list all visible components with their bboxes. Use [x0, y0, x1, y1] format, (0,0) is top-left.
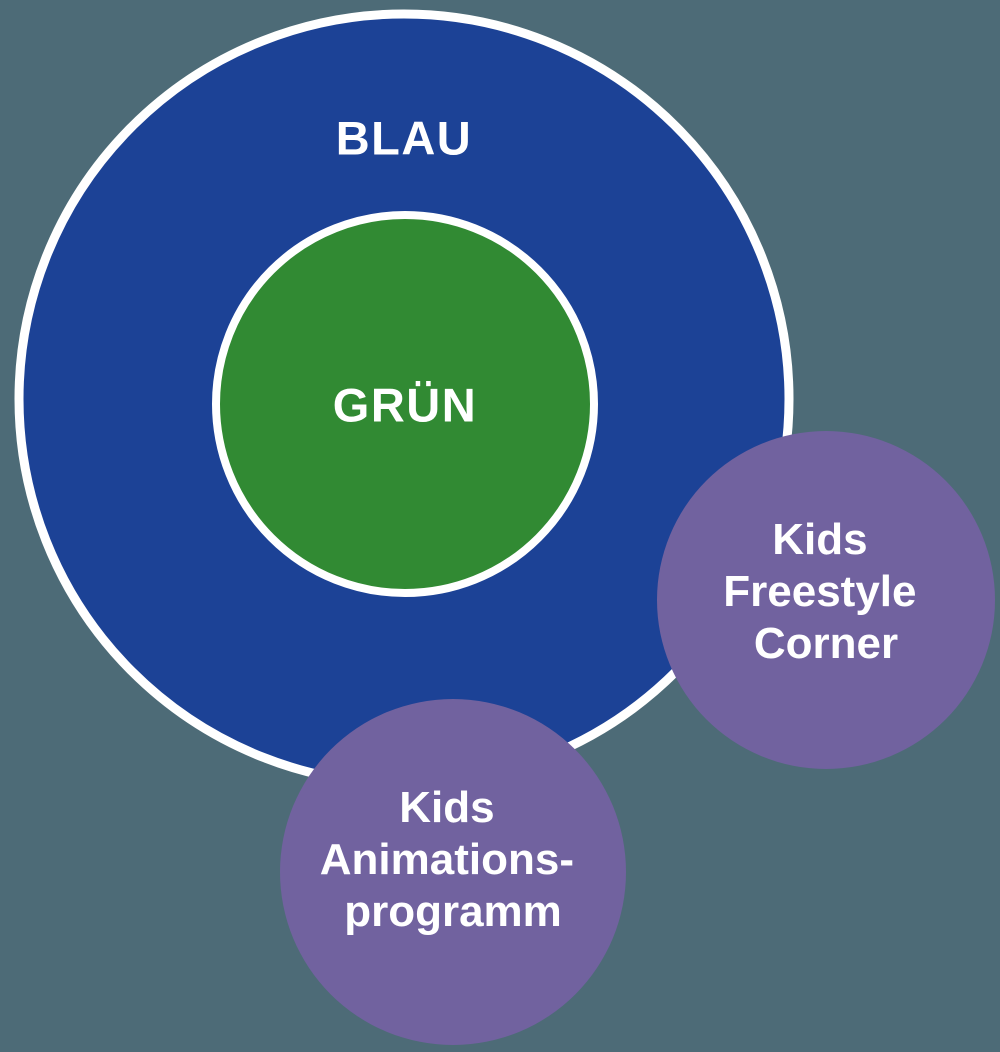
label-line: Kids: [772, 515, 867, 564]
label-blau: BLAU: [336, 111, 473, 164]
label-gruen: GRÜN: [333, 378, 477, 431]
circles-diagram: BLAU GRÜN Kids Freestyle Corner Kids Ani…: [0, 0, 1000, 1052]
label-line: Corner: [754, 619, 898, 668]
diagram-canvas: BLAU GRÜN Kids Freestyle Corner Kids Ani…: [0, 0, 1000, 1052]
label-line: programm: [344, 887, 562, 936]
label-line: Kids: [399, 783, 494, 832]
label-line: Freestyle: [723, 567, 916, 616]
label-line: Animations-: [320, 835, 574, 884]
